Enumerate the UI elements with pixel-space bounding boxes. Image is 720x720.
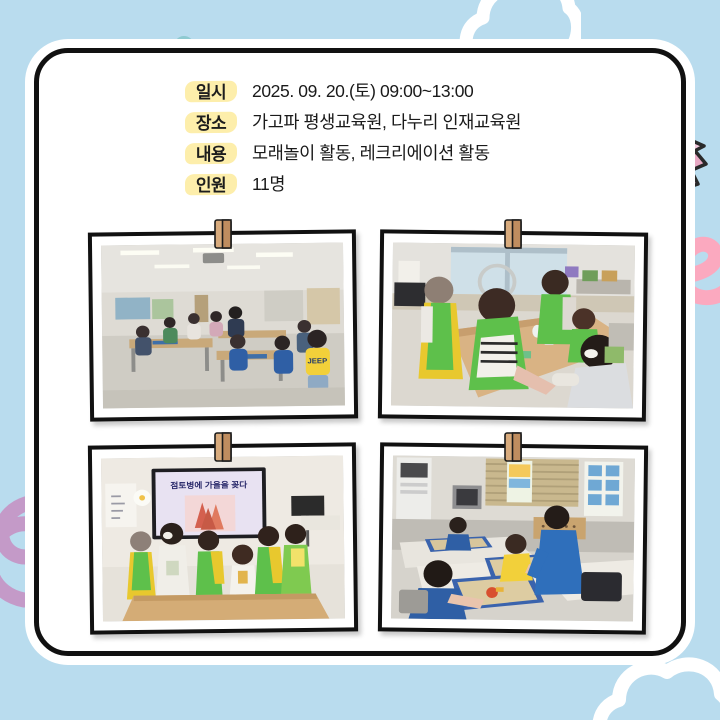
screen-title: 점토병에 가을을 꽂다 xyxy=(170,480,247,491)
photo-group-presentation: 점토병에 가을을 꽂다 xyxy=(101,456,345,622)
cloud-icon xyxy=(585,652,720,720)
info-value-content: 모래놀이 활동, 레크리에이션 활동 xyxy=(252,140,490,165)
info-value-date: 2025. 09. 20.(토) 09:00~13:00 xyxy=(252,78,473,103)
clothespin-clip xyxy=(504,219,522,249)
info-row-content: 내용 모래놀이 활동, 레크리에이션 활동 xyxy=(184,137,684,167)
svg-text:JEEP: JEEP xyxy=(307,356,327,365)
info-value-place: 가고파 평생교육원, 다누리 인재교육원 xyxy=(252,109,521,134)
info-list: 일시 2025. 09. 20.(토) 09:00~13:00 장소 가고파 평… xyxy=(184,75,684,199)
photo-sand-play xyxy=(391,456,635,622)
photo-item: JEEP xyxy=(89,219,357,420)
clothespin-clip xyxy=(214,432,232,462)
photo-frame xyxy=(378,229,648,421)
photo-item xyxy=(379,219,647,420)
photo-item: 점토병에 가을을 꽂다 xyxy=(89,432,357,633)
clothespin-clip xyxy=(214,219,232,249)
info-label-date: 일시 xyxy=(184,78,238,103)
clothespin-clip xyxy=(504,432,522,462)
photo-volunteers-crafting xyxy=(391,243,635,409)
photo-item xyxy=(379,432,647,633)
info-label-place: 장소 xyxy=(184,109,238,134)
info-label-headcount: 인원 xyxy=(184,171,238,196)
info-label-content: 내용 xyxy=(184,140,238,165)
info-row-date: 일시 2025. 09. 20.(토) 09:00~13:00 xyxy=(184,75,684,105)
poster-canvas: 일시 2025. 09. 20.(토) 09:00~13:00 장소 가고파 평… xyxy=(0,0,720,720)
info-row-place: 장소 가고파 평생교육원, 다누리 인재교육원 xyxy=(184,106,684,136)
photo-classroom-woodwork: JEEP xyxy=(101,243,345,409)
photo-grid: JEEP xyxy=(89,219,647,633)
poster-card: 일시 2025. 09. 20.(토) 09:00~13:00 장소 가고파 평… xyxy=(34,48,686,656)
info-row-headcount: 인원 11명 xyxy=(184,168,684,198)
photo-frame: 점토병에 가을을 꽂다 xyxy=(88,442,358,634)
photo-frame: JEEP xyxy=(88,229,358,421)
photo-frame xyxy=(378,442,648,634)
info-value-headcount: 11명 xyxy=(252,171,285,196)
